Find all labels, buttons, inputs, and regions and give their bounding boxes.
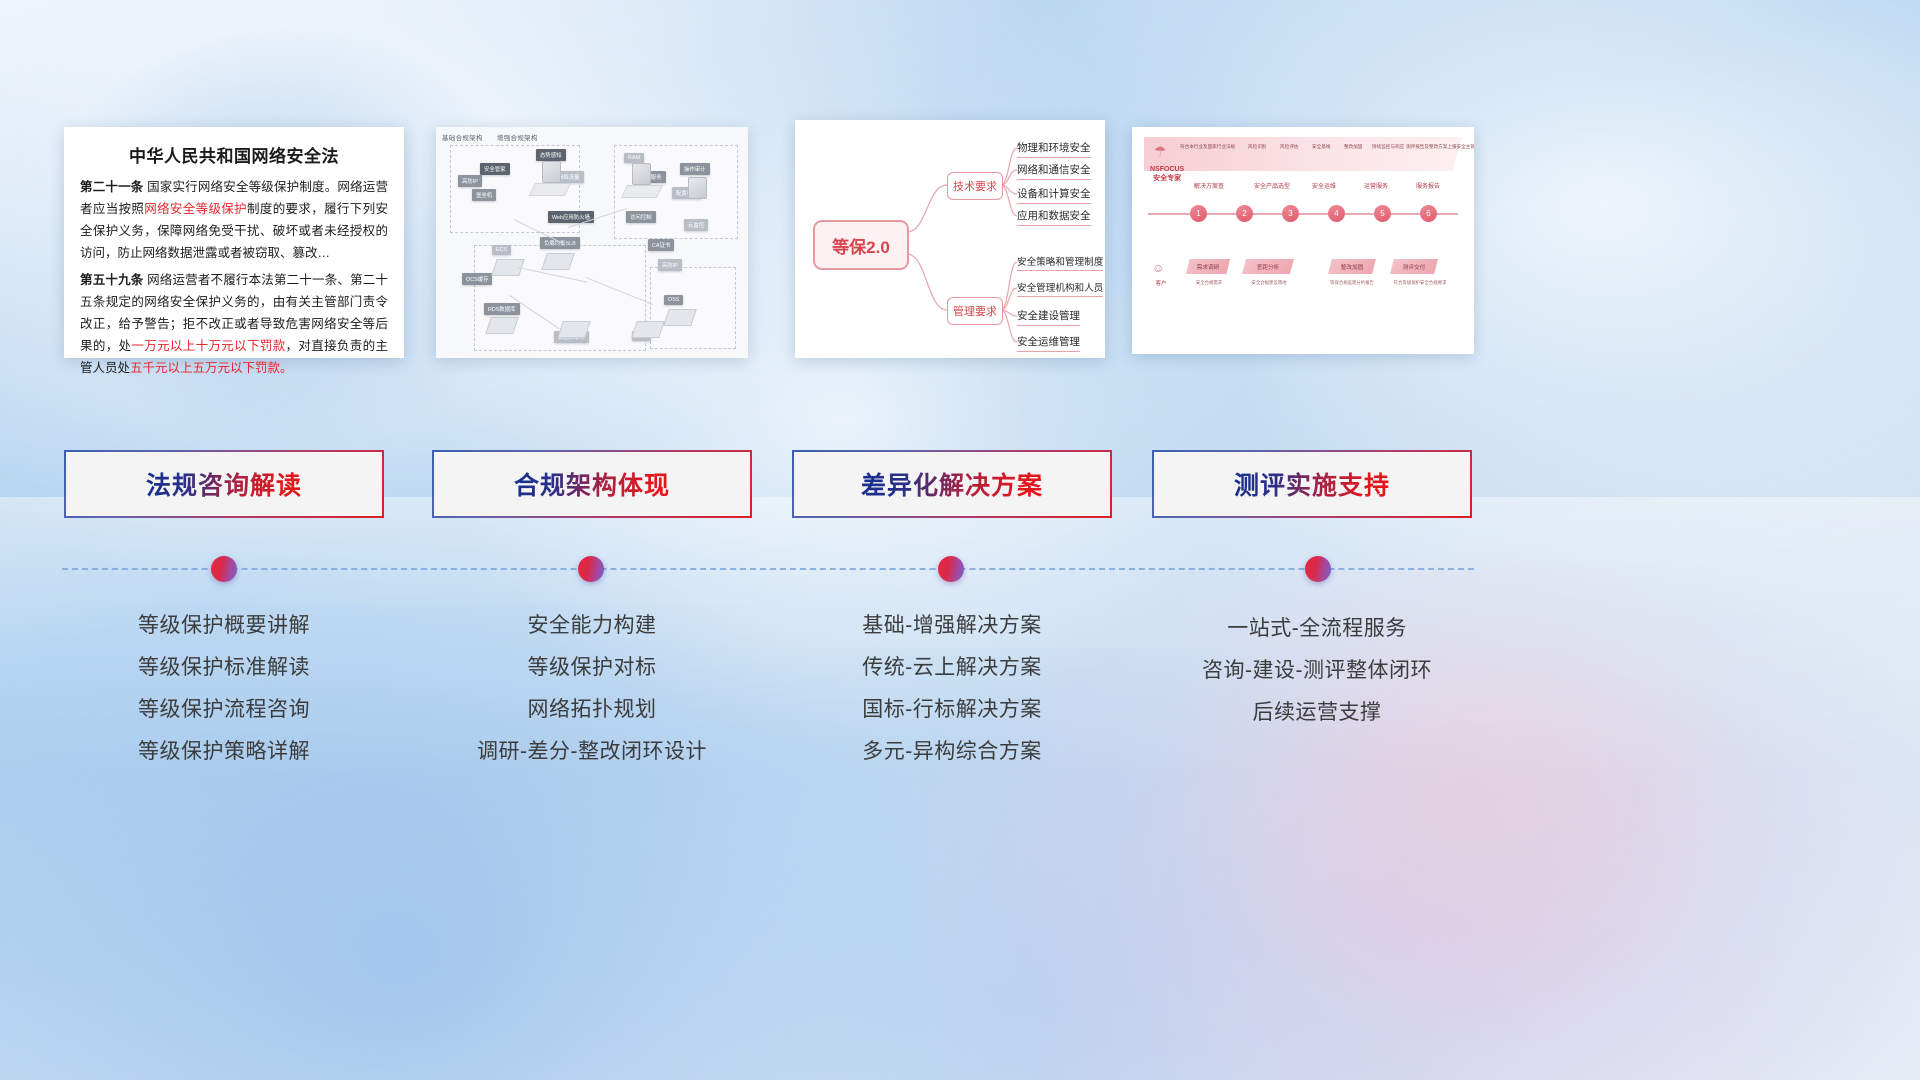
architecture-header-enhanced: 增强合规架构 xyxy=(497,135,538,142)
list-item: 基础-增强解决方案 xyxy=(792,605,1112,647)
list-item: 网络拓扑规划 xyxy=(432,689,752,731)
architecture-node-access-control: 访问控制 xyxy=(626,211,656,223)
roadmap-step-6: 6 xyxy=(1420,205,1437,222)
architecture-node-security-butler: 安全管家 xyxy=(480,163,510,175)
section-box-2[interactable]: 合规架构体现 xyxy=(432,450,752,518)
list-item: 安全能力构建 xyxy=(432,605,752,647)
architecture-plate-a xyxy=(529,183,571,196)
mindmap-leaf-policy-system: 安全策略和管理制度 xyxy=(1017,254,1103,271)
law-article-number-59: 第五十九条 xyxy=(80,273,143,287)
roadmap-band-label-5: 持续监控与响应 xyxy=(1372,144,1404,150)
architecture-icon-server-c xyxy=(688,177,707,199)
list-item: 国标-行标解决方案 xyxy=(792,689,1112,731)
mindmap-leaf-device-compute: 设备和计算安全 xyxy=(1017,186,1091,204)
bullet-column-4: 一站式-全流程服务 咨询-建设-测评整体闭环 后续运营支撑 xyxy=(1152,608,1482,734)
mindmap-leaf-org-personnel: 安全管理机构和人员 xyxy=(1017,280,1103,297)
mindmap-leaf-network-comm: 网络和通信安全 xyxy=(1017,162,1091,180)
section-label-3: 差异化解决方案 xyxy=(861,466,1043,502)
roadmap-band-label-4: 整改加固 xyxy=(1344,144,1362,150)
architecture-node-anti-ddos: 高防IP xyxy=(458,175,482,187)
architecture-icon-server-a xyxy=(542,161,561,183)
architecture-zone-storage xyxy=(650,267,736,349)
bullet-column-3: 基础-增强解决方案 传统-云上解决方案 国标-行标解决方案 多元-异构综合方案 xyxy=(792,605,1112,773)
card-cybersecurity-law[interactable]: 中华人民共和国网络安全法 第二十一条 国家实行网络安全等级保护制度。网络运营者应… xyxy=(64,127,404,358)
architecture-icon-server-b xyxy=(632,163,651,185)
section-label-4: 测评实施支持 xyxy=(1234,466,1390,502)
roadmap-role-customer: 客户 xyxy=(1144,279,1178,287)
law-run-59-1: 一万元以上十万元以下罚款 xyxy=(131,339,285,353)
architecture-node-ram: RAM xyxy=(624,153,644,163)
timeline-dot-3[interactable] xyxy=(938,556,964,582)
architecture-node-ecs: ECS xyxy=(492,245,511,255)
architecture-hex-audit xyxy=(557,321,591,338)
architecture-node-situational-awareness: 态势感知 xyxy=(536,149,566,161)
mindmap-leaf-app-data: 应用和数据安全 xyxy=(1017,208,1091,226)
architecture-node-high-defense-ip: 高防IP xyxy=(658,259,682,271)
architecture-node-rds: RDS数据库 xyxy=(484,303,520,315)
section-label-2: 合规架构体现 xyxy=(514,466,670,502)
roadmap-phase-evaluation: 测评交付 xyxy=(1390,259,1438,274)
roadmap-caption-2: 等保合规差距分析报告 xyxy=(1318,280,1386,286)
list-item: 等级保护对标 xyxy=(432,647,752,689)
roadmap-band-label-3: 安全基线 xyxy=(1312,144,1330,150)
list-item: 等级保护策略详解 xyxy=(64,731,384,773)
architecture-node-action-trail: 操作审计 xyxy=(680,163,710,175)
law-run-59-3: 五千元以上五万元以下罚款。 xyxy=(130,361,293,375)
roadmap-brand: NSFOCUS 安全专家 xyxy=(1150,165,1184,183)
mindmap-branch-management: 管理要求 xyxy=(947,297,1003,325)
roadmap-band-label-2: 风险评估 xyxy=(1280,144,1298,150)
roadmap-step-4: 4 xyxy=(1328,205,1345,222)
architecture-plate-b xyxy=(621,185,663,198)
timeline-dashed-line xyxy=(62,568,1474,570)
roadmap-band-label-6: 测评报告及整改方案上报安全主管部门 xyxy=(1406,144,1474,150)
law-title: 中华人民共和国网络安全法 xyxy=(80,142,388,167)
card-compliance-architecture[interactable]: 基础合规架构 增强合规架构 安全管家 堡垒机 高防IP 态势感知 网络流量 RA… xyxy=(436,127,748,358)
architecture-hex-oss xyxy=(663,309,697,326)
roadmap-phase-requirement: 需求调研 xyxy=(1186,259,1230,274)
timeline-dot-4[interactable] xyxy=(1305,556,1331,582)
mindmap-leaf-physical-env: 物理和环境安全 xyxy=(1017,140,1091,158)
law-paragraph-59: 第五十九条 网络运营者不履行本法第二十一条、第二十五条规定的网络安全保护义务的，… xyxy=(80,269,388,379)
roadmap-step-1: 1 xyxy=(1190,205,1207,222)
architecture-hex-slb xyxy=(541,253,575,270)
roadmap-brand-sub: 安全专家 xyxy=(1153,175,1181,182)
section-box-3[interactable]: 差异化解决方案 xyxy=(792,450,1112,518)
mindmap-leaf-ops-mgmt: 安全运维管理 xyxy=(1017,334,1080,352)
mindmap-diagram: 等保2.0 技术要求 管理要求 物理和环境安全 网络和通信安全 设备和计算安全 … xyxy=(795,120,1105,358)
roadmap-caption-3: 符合等级保护安全合规要求 xyxy=(1384,280,1456,286)
list-item: 等级保护流程咨询 xyxy=(64,689,384,731)
list-item: 等级保护标准解读 xyxy=(64,647,384,689)
section-box-4[interactable]: 测评实施支持 xyxy=(1152,450,1472,518)
architecture-node-bastion-host: 堡垒机 xyxy=(472,189,496,201)
roadmap-service-1: 安全产品选型 xyxy=(1254,181,1290,190)
architecture-node-cloud-monitor: 云监控 xyxy=(684,219,708,231)
mindmap-branch-technical: 技术要求 xyxy=(947,172,1003,200)
card-nsfocus-roadmap[interactable]: 符合本行业及国家行业法规 风险识别 风险评估 安全基线 整改加固 持续监控与响应… xyxy=(1132,127,1474,354)
section-label-1: 法规咨询解读 xyxy=(146,466,302,502)
card-dengbao-mindmap[interactable]: 等保2.0 技术要求 管理要求 物理和环境安全 网络和通信安全 设备和计算安全 … xyxy=(795,120,1105,358)
roadmap-caption-1: 安全合规建设落地 xyxy=(1238,280,1300,286)
mindmap-leaf-construction-mgmt: 安全建设管理 xyxy=(1017,308,1080,326)
architecture-header: 基础合规架构 增强合规架构 xyxy=(442,132,550,142)
roadmap-phase-gap: 差距分析 xyxy=(1242,259,1294,274)
list-item: 等级保护概要讲解 xyxy=(64,605,384,647)
security-expert-icon: ☂ xyxy=(1154,143,1167,160)
architecture-header-basic: 基础合规架构 xyxy=(442,135,483,142)
roadmap-brand-name: NSFOCUS xyxy=(1150,166,1184,173)
architecture-diagram: 基础合规架构 增强合规架构 安全管家 堡垒机 高防IP 态势感知 网络流量 RA… xyxy=(436,127,748,358)
roadmap-diagram: 符合本行业及国家行业法规 风险识别 风险评估 安全基线 整改加固 持续监控与响应… xyxy=(1132,127,1474,354)
architecture-hex-vpc xyxy=(631,321,665,338)
roadmap-band-label-1: 风险识别 xyxy=(1248,144,1266,150)
architecture-node-oss: OSS xyxy=(664,295,683,305)
roadmap-service-2: 安全运维 xyxy=(1312,181,1336,190)
bullet-column-2: 安全能力构建 等级保护对标 网络拓扑规划 调研-差分-整改闭环设计 xyxy=(432,605,752,773)
architecture-hex-rds xyxy=(485,317,519,334)
list-item: 咨询-建设-测评整体闭环 xyxy=(1152,650,1482,692)
roadmap-service-0: 解决方案查 xyxy=(1194,181,1224,190)
list-item: 一站式-全流程服务 xyxy=(1152,608,1482,650)
law-article-number-21: 第二十一条 xyxy=(80,180,143,194)
roadmap-service-4: 服务报告 xyxy=(1416,181,1440,190)
bullet-column-1: 等级保护概要讲解 等级保护标准解读 等级保护流程咨询 等级保护策略详解 xyxy=(64,605,384,773)
roadmap-service-3: 运营服务 xyxy=(1364,181,1388,190)
list-item: 后续运营支撑 xyxy=(1152,692,1482,734)
roadmap-step-3: 3 xyxy=(1282,205,1299,222)
roadmap-step-2: 2 xyxy=(1236,205,1253,222)
law-paragraph-21: 第二十一条 国家实行网络安全等级保护制度。网络运营者应当按照网络安全等级保护制度… xyxy=(80,176,388,264)
list-item: 调研-差分-整改闭环设计 xyxy=(432,731,752,773)
section-box-1[interactable]: 法规咨询解读 xyxy=(64,450,384,518)
roadmap-band-label-0: 符合本行业及国家行业法规 xyxy=(1180,144,1235,150)
list-item: 多元-异构综合方案 xyxy=(792,731,1112,773)
roadmap-step-5: 5 xyxy=(1374,205,1391,222)
timeline-dot-2[interactable] xyxy=(578,556,604,582)
architecture-node-ocs-cache: OCS缓存 xyxy=(462,273,492,285)
law-run-21-1: 网络安全等级保护 xyxy=(144,202,247,216)
architecture-node-slb: 负载均衡SLB xyxy=(540,237,580,249)
list-item: 传统-云上解决方案 xyxy=(792,647,1112,689)
mindmap-root: 等保2.0 xyxy=(813,220,909,270)
roadmap-caption-0: 安全合规需求 xyxy=(1180,280,1238,286)
timeline-dot-1[interactable] xyxy=(211,556,237,582)
customer-icon: ☺ xyxy=(1152,261,1164,275)
architecture-node-ca-cert: CA证书 xyxy=(648,239,674,251)
roadmap-phase-rectify: 整改加固 xyxy=(1328,259,1376,274)
roadmap-top-band xyxy=(1144,137,1462,171)
